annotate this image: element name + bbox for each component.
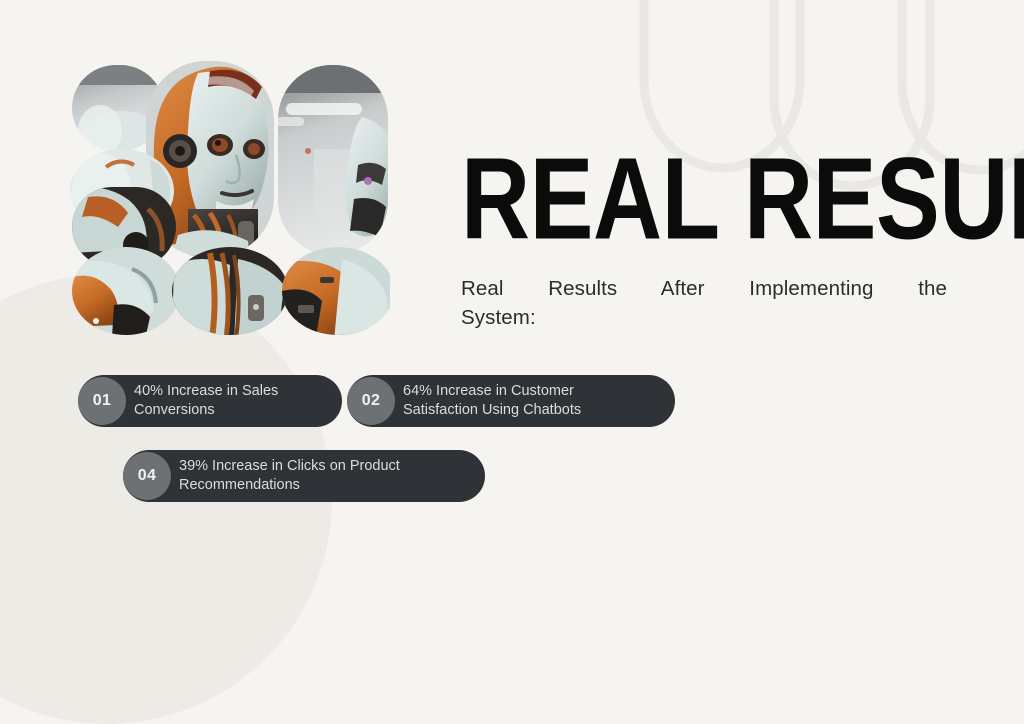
robot-photo-collage	[70, 59, 390, 336]
collage-svg	[70, 59, 390, 336]
collage-tile-right-tall	[270, 59, 390, 259]
stat-card-04[interactable]: 04 39% Increase in Clicks on Product Rec…	[123, 450, 485, 502]
collage-tile-bottom-left	[70, 245, 182, 336]
stat-badge-number: 02	[347, 377, 395, 425]
page-subtitle: Real Results After Implementing the Syst…	[461, 275, 947, 332]
stat-pill: 39% Increase in Clicks on Product Recomm…	[123, 450, 485, 502]
collage-tile-bottom-right	[278, 245, 390, 336]
subtitle-line-1: Real Results After Implementing the	[461, 277, 947, 300]
stat-card-text: 64% Increase in Customer Satisfaction Us…	[403, 382, 649, 420]
stat-badge-number: 04	[123, 452, 171, 500]
stat-card-02[interactable]: 02 64% Increase in Customer Satisfaction…	[347, 375, 675, 427]
collage-tile-bottom-mid	[170, 245, 290, 336]
stat-badge-number: 01	[78, 377, 126, 425]
stat-card-01[interactable]: 01 40% Increase in Sales Conversions	[78, 375, 342, 427]
stat-card-text: 39% Increase in Clicks on Product Recomm…	[179, 457, 459, 495]
page-title: REAL RESULTS	[461, 150, 908, 250]
headline-block: REAL RESULTS Real Results After Implemen…	[461, 150, 947, 332]
stat-card-text: 40% Increase in Sales Conversions	[134, 382, 316, 420]
subtitle-line-2: System:	[461, 304, 947, 332]
stat-pill: 64% Increase in Customer Satisfaction Us…	[347, 375, 675, 427]
